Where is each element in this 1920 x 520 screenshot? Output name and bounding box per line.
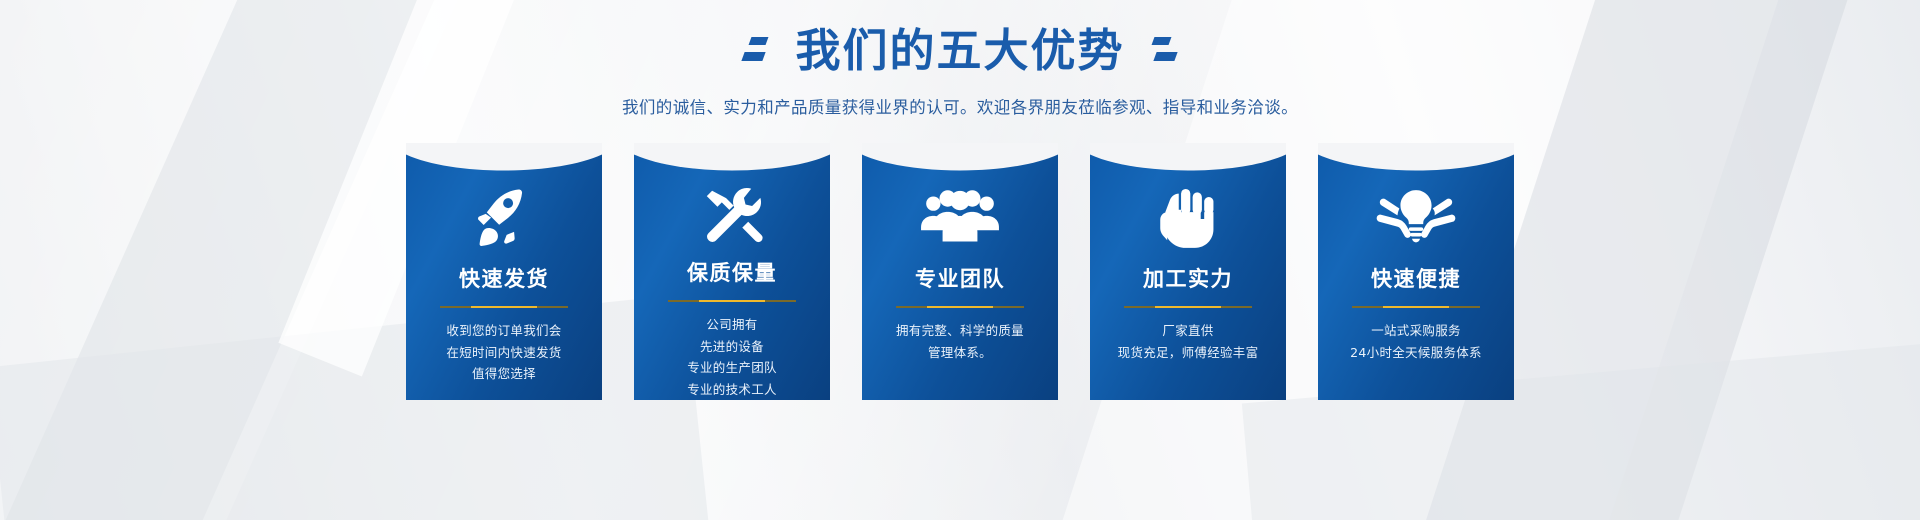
card-description-line: 厂家直供 [1118, 320, 1259, 342]
banner-header: 我们的五大优势 我们的诚信、实力和产品质量获得业界的认可。欢迎各界朋友莅临参观、… [0, 0, 1920, 119]
card-description-line: 在短时间内快速发货 [446, 342, 561, 364]
card-description-line: 现货充足，师傅经验丰富 [1118, 342, 1259, 364]
promo-banner: 我们的五大优势 我们的诚信、实力和产品质量获得业界的认可。欢迎各界朋友莅临参观、… [0, 0, 1920, 520]
card-description-line: 公司拥有 [687, 314, 777, 336]
card-description-line: 拥有完整、科学的质量 [896, 320, 1024, 342]
advantage-card-list: 快速发货 收到您的订单我们会 在短时间内快速发货 值得您选择 [0, 143, 1920, 400]
card-description-line: 24小时全天候服务体系 [1350, 342, 1482, 364]
rocket-icon [467, 171, 541, 267]
card-title: 快速发货 [459, 269, 549, 290]
card-divider [896, 306, 1024, 308]
card-description-line: 值得您选择 [446, 363, 561, 385]
fist-hand-icon [1153, 171, 1223, 267]
card-description-line: 收到您的订单我们会 [446, 320, 561, 342]
card-divider [440, 306, 568, 308]
card-divider [1352, 306, 1480, 308]
title-row: 我们的五大优势 [0, 0, 1920, 86]
tools-wrench-screwdriver-icon [695, 171, 769, 261]
card-description-line: 专业的技术工人 [687, 379, 777, 401]
card-description: 一站式采购服务 24小时全天候服务体系 [1350, 320, 1482, 363]
diagonal-dashes-right-icon [1147, 33, 1181, 67]
card-description: 厂家直供 现货充足，师傅经验丰富 [1118, 320, 1259, 363]
card-divider [668, 300, 796, 302]
card-title: 保质保量 [687, 263, 777, 284]
advantage-card[interactable]: 加工实力 厂家直供 现货充足，师傅经验丰富 [1090, 143, 1286, 400]
card-description: 拥有完整、科学的质量 管理体系。 [896, 320, 1024, 363]
advantage-card[interactable]: 专业团队 拥有完整、科学的质量 管理体系。 [862, 143, 1058, 400]
card-description-line: 专业的生产团队 [687, 357, 777, 379]
people-group-icon [919, 171, 1001, 267]
card-divider [1124, 306, 1252, 308]
advantage-card[interactable]: 快速发货 收到您的订单我们会 在短时间内快速发货 值得您选择 [406, 143, 602, 400]
diagonal-dashes-left-icon [739, 33, 773, 67]
card-title: 快速便捷 [1371, 269, 1461, 290]
page-title: 我们的五大优势 [795, 28, 1124, 73]
card-description: 公司拥有 先进的设备 专业的生产团队 专业的技术工人 [687, 314, 777, 400]
advantage-card[interactable]: 快速便捷 一站式采购服务 24小时全天候服务体系 [1318, 143, 1514, 400]
card-title: 加工实力 [1143, 269, 1233, 290]
card-description-line: 先进的设备 [687, 336, 777, 358]
card-description-line: 管理体系。 [896, 342, 1024, 364]
lightbulb-in-hands-icon [1376, 171, 1456, 267]
advantage-card[interactable]: 保质保量 公司拥有 先进的设备 专业的生产团队 专业的技术工人 [634, 143, 830, 400]
page-subtitle: 我们的诚信、实力和产品质量获得业界的认可。欢迎各界朋友莅临参观、指导和业务洽谈。 [0, 96, 1920, 119]
card-description: 收到您的订单我们会 在短时间内快速发货 值得您选择 [446, 320, 561, 385]
card-title: 专业团队 [915, 269, 1005, 290]
card-description-line: 一站式采购服务 [1350, 320, 1482, 342]
